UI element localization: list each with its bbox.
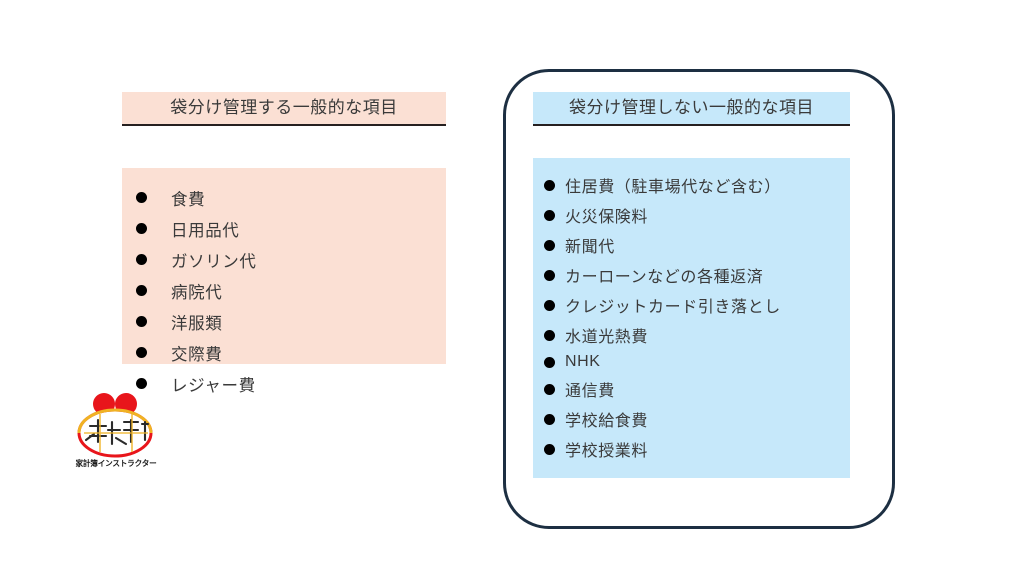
list-item: カーローンなどの各種返済 bbox=[533, 260, 850, 290]
list-item: 住居費（駐車場代など含む） bbox=[533, 170, 850, 200]
list-item-label: 日用品代 bbox=[171, 217, 239, 241]
list-item-label: 水道光熱費 bbox=[565, 323, 648, 347]
list-item-label: 住居費（駐車場代など含む） bbox=[565, 173, 781, 197]
right-column: 袋分け管理しない一般的な項目 住居費（駐車場代など含む） 火災保険料 新聞代 カ bbox=[533, 92, 850, 478]
list-item: 食費 bbox=[122, 182, 446, 213]
list-item-label: 交際費 bbox=[171, 341, 222, 365]
list-item: 学校給食費 bbox=[533, 404, 850, 434]
list-item-label: 通信費 bbox=[565, 377, 615, 401]
list-item-label: 洋服類 bbox=[171, 310, 222, 334]
brand-logo: 家計簿インストラクター bbox=[60, 392, 172, 478]
bullet-icon bbox=[136, 192, 147, 203]
bullet-icon bbox=[544, 270, 555, 281]
left-column: 袋分け管理する一般的な項目 食費 日用品代 ガソリン代 病院代 bbox=[122, 92, 446, 364]
bullet-icon bbox=[544, 414, 555, 425]
right-item-list: 住居費（駐車場代など含む） 火災保険料 新聞代 カーローンなどの各種返済 クレジ… bbox=[533, 170, 850, 464]
bullet-icon bbox=[544, 210, 555, 221]
list-item-label: 病院代 bbox=[171, 279, 222, 303]
left-column-header: 袋分け管理する一般的な項目 bbox=[122, 92, 446, 126]
list-item: 学校授業料 bbox=[533, 434, 850, 464]
bullet-icon bbox=[544, 330, 555, 341]
bullet-icon bbox=[544, 180, 555, 191]
list-item-label: ガソリン代 bbox=[171, 248, 257, 272]
left-item-list: 食費 日用品代 ガソリン代 病院代 洋服類 bbox=[122, 182, 446, 399]
bullet-icon bbox=[544, 240, 555, 251]
purse-logo-icon bbox=[60, 392, 172, 458]
list-item-label: 火災保険料 bbox=[565, 203, 648, 227]
list-item-label: 食費 bbox=[171, 186, 205, 210]
list-item-label: 新聞代 bbox=[565, 233, 615, 257]
list-item: ガソリン代 bbox=[122, 244, 446, 275]
bullet-icon bbox=[544, 357, 555, 368]
list-item: 新聞代 bbox=[533, 230, 850, 260]
list-item: 洋服類 bbox=[122, 306, 446, 337]
bullet-icon bbox=[544, 444, 555, 455]
list-item: 日用品代 bbox=[122, 213, 446, 244]
list-item: NHK bbox=[533, 350, 850, 374]
slide-canvas: 袋分け管理する一般的な項目 食費 日用品代 ガソリン代 病院代 bbox=[0, 0, 1024, 576]
list-item-label: クレジットカード引き落とし bbox=[565, 293, 781, 317]
list-item-label: 学校給食費 bbox=[565, 407, 648, 431]
right-column-header: 袋分け管理しない一般的な項目 bbox=[533, 92, 850, 126]
list-item: 水道光熱費 bbox=[533, 320, 850, 350]
list-item: 通信費 bbox=[533, 374, 850, 404]
list-item-label: NHK bbox=[565, 353, 601, 371]
list-item: 火災保険料 bbox=[533, 200, 850, 230]
logo-caption: 家計簿インストラクター bbox=[63, 458, 169, 469]
bullet-icon bbox=[544, 300, 555, 311]
bullet-icon bbox=[136, 347, 147, 358]
bullet-icon bbox=[544, 384, 555, 395]
list-item: 交際費 bbox=[122, 337, 446, 368]
bullet-icon bbox=[136, 378, 147, 389]
list-item-label: レジャー費 bbox=[171, 372, 256, 396]
bullet-icon bbox=[136, 254, 147, 265]
right-column-body: 住居費（駐車場代など含む） 火災保険料 新聞代 カーローンなどの各種返済 クレジ… bbox=[533, 158, 850, 478]
bullet-icon bbox=[136, 223, 147, 234]
list-item-label: カーローンなどの各種返済 bbox=[565, 263, 763, 287]
list-item: 病院代 bbox=[122, 275, 446, 306]
bullet-icon bbox=[136, 316, 147, 327]
list-item: クレジットカード引き落とし bbox=[533, 290, 850, 320]
bullet-icon bbox=[136, 285, 147, 296]
left-column-body: 食費 日用品代 ガソリン代 病院代 洋服類 bbox=[122, 168, 446, 364]
list-item-label: 学校授業料 bbox=[565, 437, 648, 461]
